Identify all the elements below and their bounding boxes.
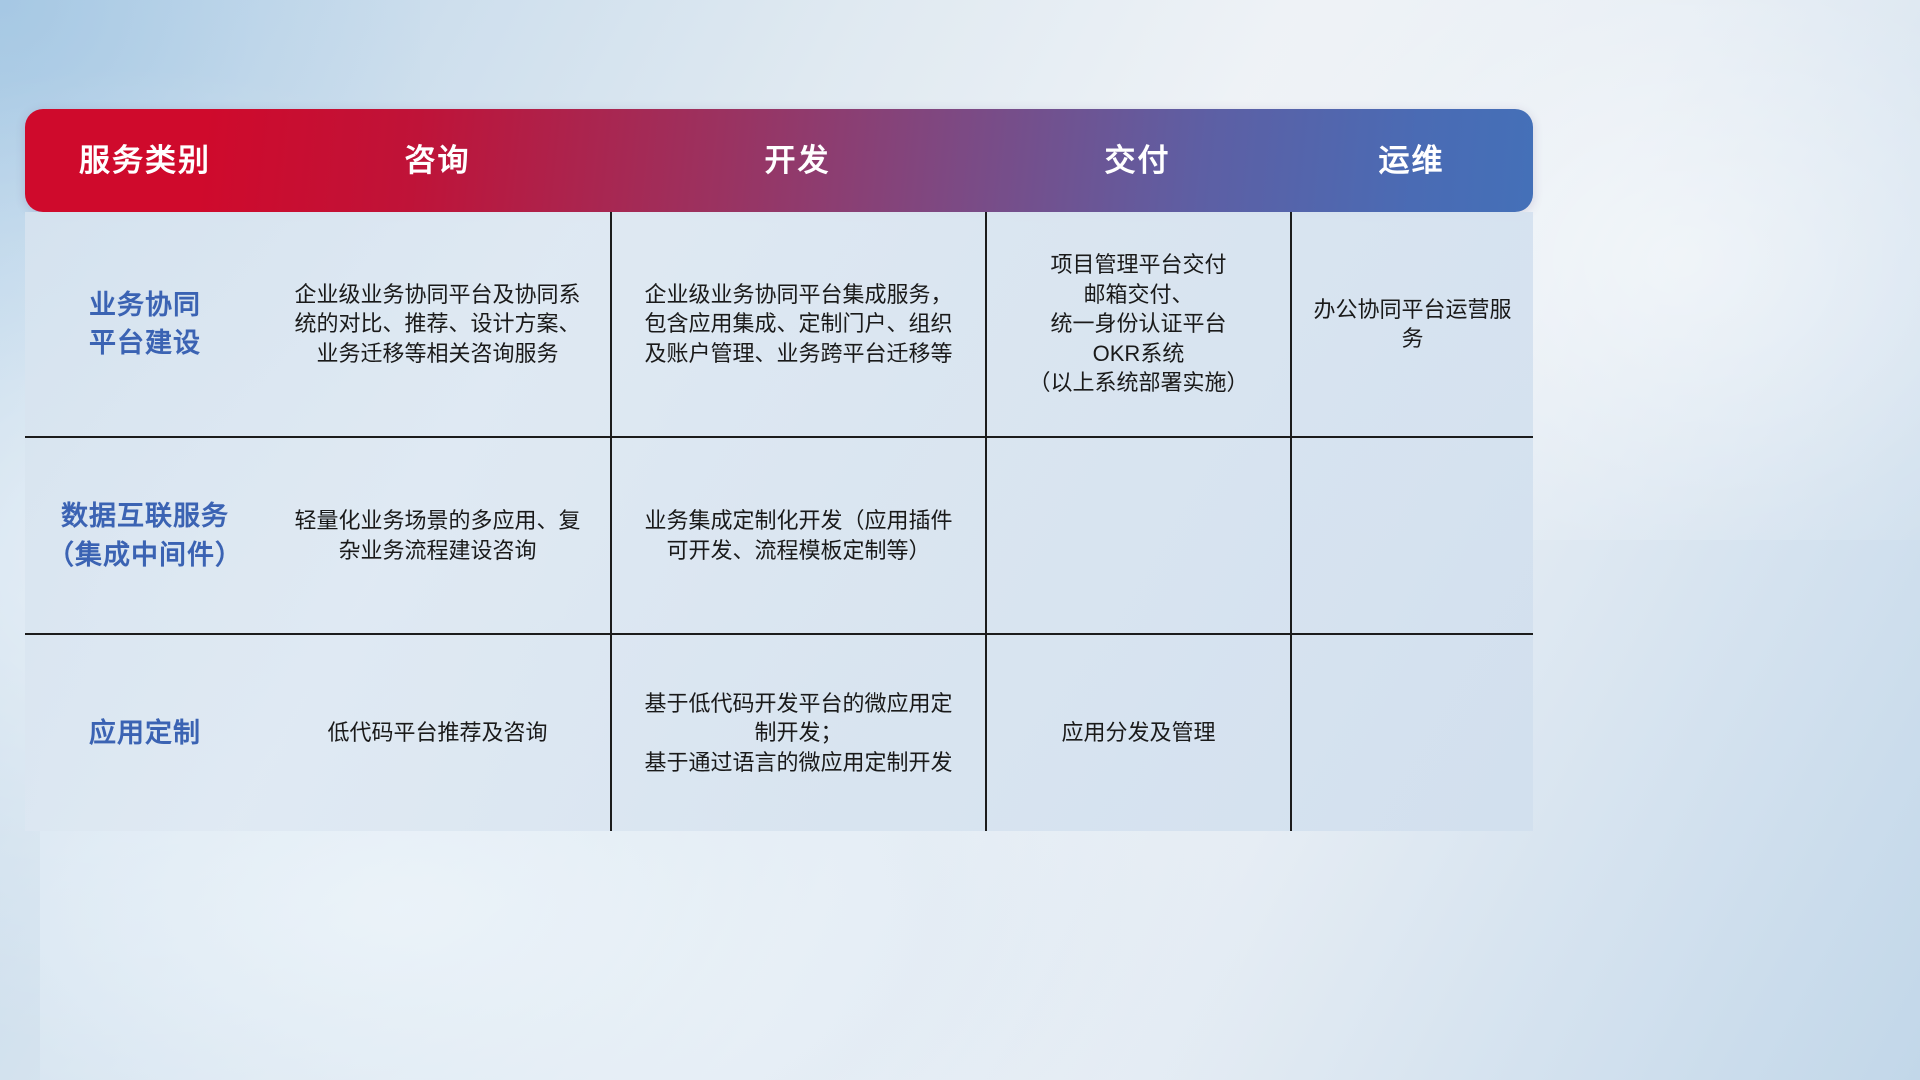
row-2-development-cell: 业务集成定制化开发（应用插件 可开发、流程模板定制等） [610, 438, 985, 633]
row-2-operations-cell [1290, 438, 1533, 633]
table-row: 业务协同 平台建设 企业级业务协同平台及协同系 统的对比、推荐、设计方案、 业务… [25, 212, 1533, 438]
row-3-delivery-cell: 应用分发及管理 [985, 635, 1290, 831]
header-cell-operations: 运维 [1290, 145, 1533, 176]
table-body: 业务协同 平台建设 企业级业务协同平台及协同系 统的对比、推荐、设计方案、 业务… [25, 212, 1533, 831]
row-1-delivery-cell: 项目管理平台交付 邮箱交付、 统一身份认证平台 OKR系统 （以上系统部署实施） [985, 212, 1290, 436]
row-3-category-cell: 应用定制 [25, 635, 265, 831]
row-1-category-cell: 业务协同 平台建设 [25, 212, 265, 436]
row-3-development-cell: 基于低代码开发平台的微应用定 制开发； 基于通过语言的微应用定制开发 [610, 635, 985, 831]
row-3-operations-cell [1290, 635, 1533, 831]
table-row: 应用定制 低代码平台推荐及咨询 基于低代码开发平台的微应用定 制开发； 基于通过… [25, 635, 1533, 831]
service-matrix-table: 服务类别 咨询 开发 交付 运维 业务协同 平台建设 企业级业务协同平台及协同系… [25, 109, 1533, 774]
table-row: 数据互联服务 （集成中间件） 轻量化业务场景的多应用、复 杂业务流程建设咨询 业… [25, 438, 1533, 635]
header-cell-consulting: 咨询 [265, 145, 610, 176]
row-2-category-cell: 数据互联服务 （集成中间件） [25, 438, 265, 633]
table-header-row: 服务类别 咨询 开发 交付 运维 [25, 109, 1533, 212]
header-cell-service-category: 服务类别 [25, 145, 265, 176]
row-3-consulting-cell: 低代码平台推荐及咨询 [265, 635, 610, 831]
row-2-consulting-cell: 轻量化业务场景的多应用、复 杂业务流程建设咨询 [265, 438, 610, 633]
row-1-operations-cell: 办公协同平台运营服务 [1290, 212, 1533, 436]
row-1-consulting-cell: 企业级业务协同平台及协同系 统的对比、推荐、设计方案、 业务迁移等相关咨询服务 [265, 212, 610, 436]
row-2-delivery-cell [985, 438, 1290, 633]
header-cell-delivery: 交付 [985, 145, 1290, 176]
header-cell-development: 开发 [610, 145, 985, 176]
row-1-development-cell: 企业级业务协同平台集成服务， 包含应用集成、定制门户、组织 及账户管理、业务跨平… [610, 212, 985, 436]
